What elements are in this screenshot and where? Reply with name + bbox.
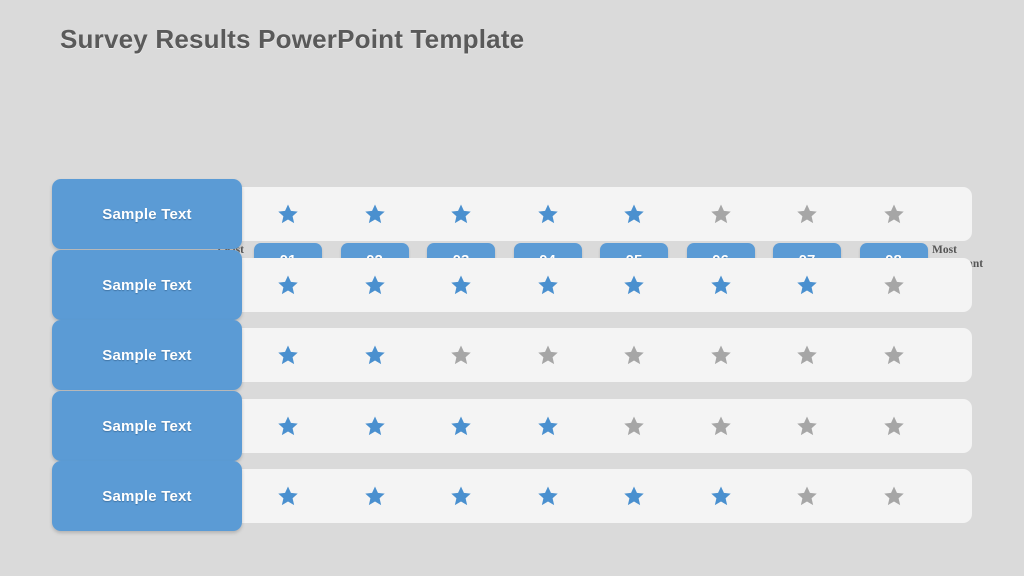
star-filled-icon[interactable] bbox=[450, 485, 472, 507]
star-empty-icon[interactable] bbox=[796, 344, 818, 366]
table-row: Sample Text bbox=[52, 258, 972, 312]
row-label-text: Sample Text bbox=[102, 418, 191, 435]
star-filled-icon[interactable] bbox=[537, 274, 559, 296]
star-filled-icon[interactable] bbox=[450, 274, 472, 296]
star-empty-icon[interactable] bbox=[537, 344, 559, 366]
star-filled-icon[interactable] bbox=[364, 485, 386, 507]
star-filled-icon[interactable] bbox=[277, 485, 299, 507]
table-row: Sample Text bbox=[52, 328, 972, 382]
star-filled-icon[interactable] bbox=[364, 344, 386, 366]
star-filled-icon[interactable] bbox=[277, 415, 299, 437]
star-filled-icon[interactable] bbox=[364, 274, 386, 296]
star-filled-icon[interactable] bbox=[623, 203, 645, 225]
row-label-button[interactable]: Sample Text bbox=[52, 320, 242, 390]
star-filled-icon[interactable] bbox=[796, 274, 818, 296]
star-empty-icon[interactable] bbox=[883, 485, 905, 507]
row-label-text: Sample Text bbox=[102, 488, 191, 505]
row-label-text: Sample Text bbox=[102, 206, 191, 223]
star-empty-icon[interactable] bbox=[623, 415, 645, 437]
star-empty-icon[interactable] bbox=[883, 344, 905, 366]
star-empty-icon[interactable] bbox=[710, 415, 732, 437]
star-filled-icon[interactable] bbox=[364, 415, 386, 437]
star-filled-icon[interactable] bbox=[450, 415, 472, 437]
star-empty-icon[interactable] bbox=[710, 344, 732, 366]
row-label-button[interactable]: Sample Text bbox=[52, 391, 242, 461]
table-row: Sample Text bbox=[52, 469, 972, 523]
star-filled-icon[interactable] bbox=[277, 274, 299, 296]
row-label-button[interactable]: Sample Text bbox=[52, 250, 242, 320]
row-label-button[interactable]: Sample Text bbox=[52, 461, 242, 531]
star-filled-icon[interactable] bbox=[364, 203, 386, 225]
star-filled-icon[interactable] bbox=[277, 203, 299, 225]
star-empty-icon[interactable] bbox=[710, 203, 732, 225]
star-filled-icon[interactable] bbox=[710, 485, 732, 507]
star-empty-icon[interactable] bbox=[883, 274, 905, 296]
star-empty-icon[interactable] bbox=[796, 485, 818, 507]
star-empty-icon[interactable] bbox=[450, 344, 472, 366]
star-filled-icon[interactable] bbox=[537, 485, 559, 507]
star-empty-icon[interactable] bbox=[796, 203, 818, 225]
row-label-text: Sample Text bbox=[102, 347, 191, 364]
slide-canvas: Survey Results PowerPoint Template Least… bbox=[0, 0, 1024, 576]
star-empty-icon[interactable] bbox=[883, 203, 905, 225]
star-empty-icon[interactable] bbox=[623, 344, 645, 366]
star-filled-icon[interactable] bbox=[710, 274, 732, 296]
star-empty-icon[interactable] bbox=[883, 415, 905, 437]
star-filled-icon[interactable] bbox=[450, 203, 472, 225]
star-filled-icon[interactable] bbox=[623, 485, 645, 507]
star-filled-icon[interactable] bbox=[537, 415, 559, 437]
star-filled-icon[interactable] bbox=[623, 274, 645, 296]
row-label-text: Sample Text bbox=[102, 277, 191, 294]
scale-header: Least Important 0102030405060708 Most Im… bbox=[0, 120, 1024, 162]
star-empty-icon[interactable] bbox=[796, 415, 818, 437]
star-filled-icon[interactable] bbox=[537, 203, 559, 225]
table-row: Sample Text bbox=[52, 187, 972, 241]
star-filled-icon[interactable] bbox=[277, 344, 299, 366]
row-label-button[interactable]: Sample Text bbox=[52, 179, 242, 249]
table-row: Sample Text bbox=[52, 399, 972, 453]
most-important-line1: Most bbox=[932, 244, 957, 256]
page-title: Survey Results PowerPoint Template bbox=[60, 24, 524, 55]
